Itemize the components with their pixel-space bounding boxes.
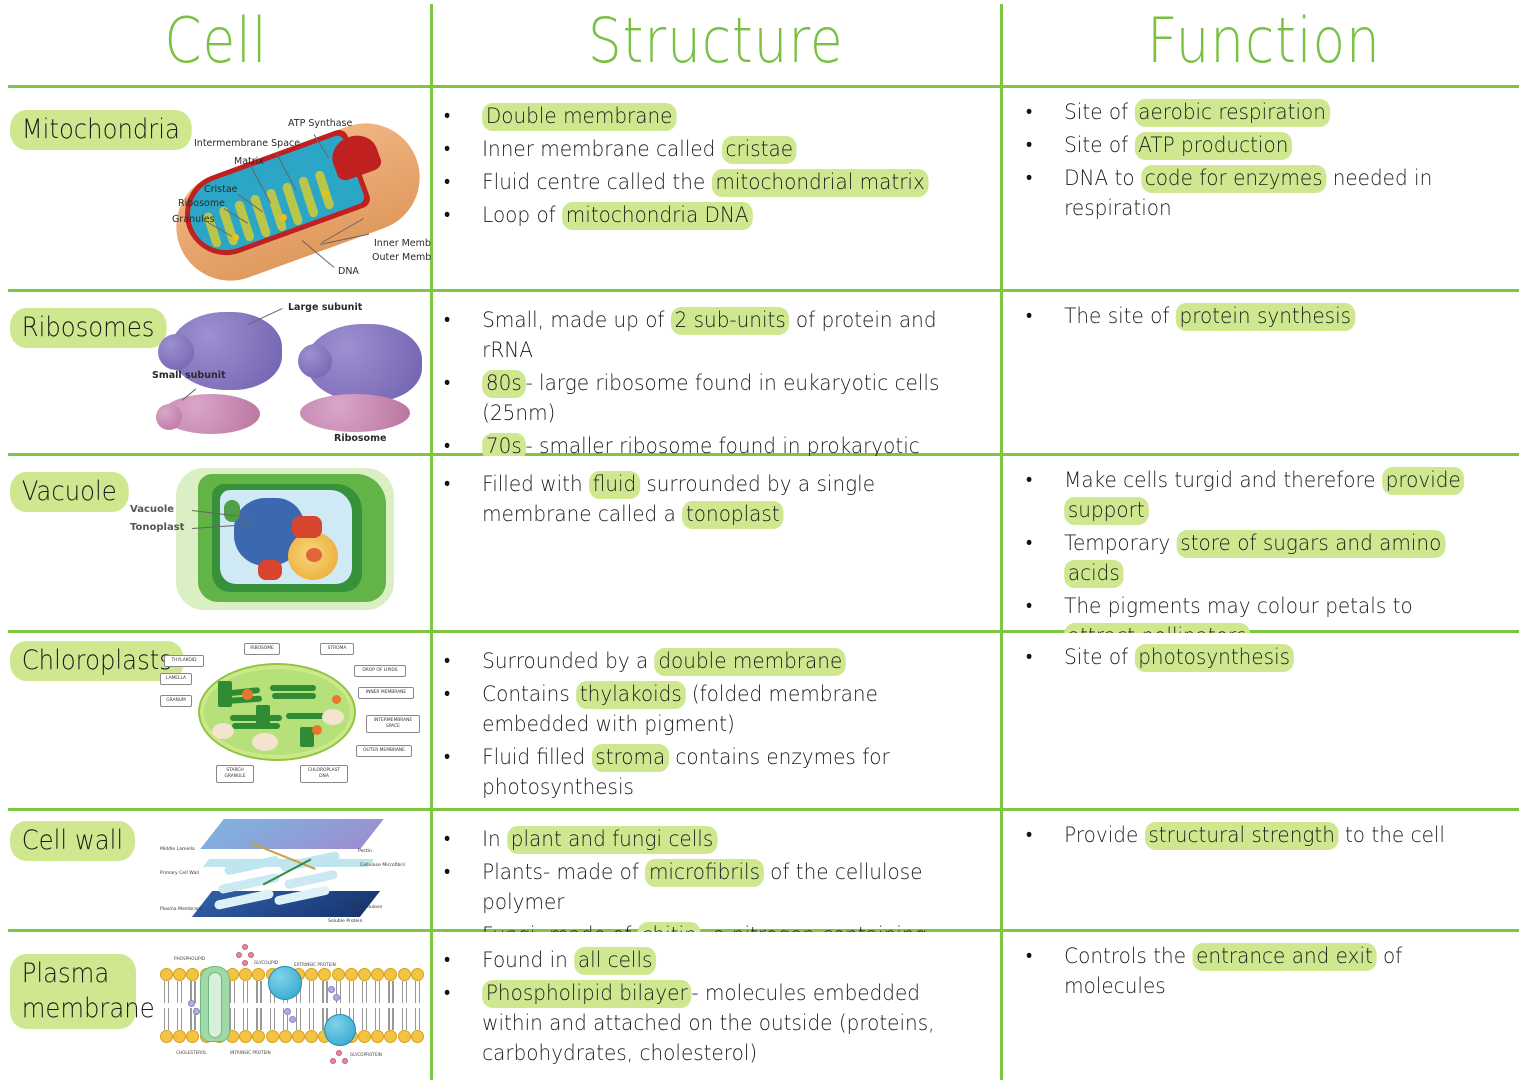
phospholipid-head: [173, 968, 186, 981]
phospholipid-tail: [164, 981, 165, 1003]
bullet-text: Fluid centre called the: [482, 170, 711, 195]
glycoprotein-sugar: [342, 1058, 348, 1064]
highlighted-term: 70s: [482, 433, 525, 456]
diagram-label: Large subunit: [288, 302, 362, 313]
chloroplast-shape: [258, 560, 282, 580]
function-list: Site of photosynthesis: [1013, 643, 1517, 673]
cholesterol: [193, 1008, 200, 1015]
golgi-apparatus: [292, 516, 322, 538]
bullet-text: Found in: [482, 948, 574, 973]
phospholipid-tail: [168, 981, 169, 1003]
bullet-item: Site of photosynthesis: [1013, 643, 1482, 673]
structure-list: In plant and fungi cellsPlants- made of …: [431, 825, 985, 932]
function-list: The site of protein synthesis: [1013, 302, 1517, 332]
bullet-item: Filled with fluid surrounded by a single…: [431, 470, 946, 530]
diagram-label: GLYCOPROTEIN: [350, 1052, 382, 1057]
phospholipid-tail: [362, 981, 363, 1003]
diagram-label-box: DROP OF LIPIDS: [354, 665, 406, 677]
granule: [232, 234, 239, 241]
phospholipid-tail: [309, 1008, 310, 1030]
header-function-label: Function: [1147, 2, 1381, 80]
chloroplast-diagram: THYLAKOID LAMELLA GRANUM RIBOSOME STROMA…: [160, 637, 430, 805]
bullet-text: - smaller ribosome found in prokaryotic …: [482, 434, 920, 456]
diagram-label: PHOSPHOLIPID: [174, 956, 205, 961]
phospholipid-head: [318, 968, 331, 981]
structure-list: Double membraneInner membrane called cri…: [431, 102, 985, 231]
starch-granule: [212, 723, 234, 739]
function-list: Site of aerobic respirationSite of ATP p…: [1013, 98, 1517, 224]
bullet-text: The site of: [1064, 304, 1176, 329]
cholesterol: [289, 1016, 296, 1023]
bullet-item: Site of aerobic respiration: [1013, 98, 1482, 128]
highlighted-term: fluid: [589, 471, 640, 499]
diagram-label: Inner Membrane: [374, 238, 431, 249]
phospholipid-tail: [392, 981, 393, 1003]
phospholipid-tail: [181, 981, 182, 1003]
diagram-label-box: STARCH GRANULE: [216, 765, 254, 783]
diagram-label: Matrix: [234, 156, 264, 167]
phospholipid-tail: [270, 1008, 271, 1030]
diagram-label-box: LAMELLA: [160, 673, 192, 685]
phospholipid-tail: [243, 981, 244, 1003]
phospholipid-tail: [181, 1008, 182, 1030]
phospholipid-tail: [274, 1008, 275, 1030]
phospholipid-tail: [388, 1008, 389, 1030]
phospholipid-head: [411, 968, 424, 981]
diagram-label-box: CHLOROPLAST DNA: [300, 765, 348, 783]
row-vacuole-cell: Vacuole Vacuole Tonoplast: [0, 456, 431, 633]
extrinsic-protein-upper: [268, 966, 302, 1000]
bullet-text: In: [482, 827, 507, 852]
bullet-text: Site of: [1064, 133, 1134, 158]
bullet-text: Provide: [1064, 823, 1144, 848]
bullet-item: Contains thylakoids (folded membrane emb…: [431, 680, 946, 740]
lipid-drop: [242, 689, 253, 700]
nucleolus: [306, 548, 322, 562]
phospholipid-tail: [230, 1008, 231, 1030]
glycolipid-sugar: [242, 944, 248, 950]
phospholipid-tail: [379, 981, 380, 1003]
header-cell-cell: Cell: [0, 0, 431, 88]
bullet-text: Controls the: [1064, 944, 1192, 969]
bullet-text: Inner membrane called: [482, 137, 722, 162]
function-list: Make cells turgid and therefore provide …: [1013, 466, 1517, 633]
bullet-item: Temporary store of sugars and amino acid…: [1013, 529, 1482, 589]
diagram-label: Granules: [172, 214, 215, 225]
function-list: Provide structural strength to the cell: [1013, 821, 1517, 851]
diagram-label: Soluble Protein: [328, 919, 363, 925]
diagram-label: Cellulose Microfibril: [360, 863, 405, 869]
bullet-item: DNA to code for enzymes needed in respir…: [1013, 164, 1482, 224]
phospholipid-tail: [247, 981, 248, 1003]
highlighted-term: mitochondria DNA: [562, 202, 752, 230]
phospholipid-tail: [388, 981, 389, 1003]
phospholipid-head: [371, 968, 384, 981]
bullet-item: Site of ATP production: [1013, 131, 1482, 161]
function-list: Controls the entrance and exit of molecu…: [1013, 942, 1517, 1002]
highlighted-term: attract pollinators: [1064, 623, 1250, 633]
phospholipid-head: [252, 1030, 265, 1043]
chloroplast-organelle: [224, 500, 240, 522]
bullet-item: Fluid filled stroma contains enzymes for…: [431, 743, 946, 803]
phospholipid-tail: [230, 981, 231, 1003]
bullet-item: The pigments may colour petals to attrac…: [1013, 592, 1482, 633]
cholesterol: [328, 986, 335, 993]
highlighted-term: cristae: [722, 136, 797, 164]
bullet-item: In plant and fungi cells: [431, 825, 946, 855]
phospholipid-tail: [256, 1008, 257, 1030]
phospholipid-tail: [392, 1008, 393, 1030]
bullet-text: to the cell: [1339, 823, 1445, 848]
phospholipid-head: [239, 968, 252, 981]
phospholipid-tail: [415, 1008, 416, 1030]
row-chloroplasts-cell: Chloroplasts THYLAKOI: [0, 633, 431, 811]
diagram-label: Intermembrane Space: [194, 138, 300, 149]
row-ribosomes-function: The site of protein synthesis: [1001, 292, 1527, 456]
highlighted-term: 80s: [482, 370, 525, 398]
plant-cell-vacuole-diagram: Vacuole Tonoplast: [130, 460, 430, 620]
diagram-label: Small subunit: [152, 370, 226, 381]
diagram-label: Hemicellulose: [350, 905, 382, 911]
phospholipid-head: [252, 968, 265, 981]
phospholipid-head: [160, 968, 173, 981]
phospholipid-tail: [379, 1008, 380, 1030]
diagram-label: Ribosome: [334, 433, 386, 444]
phospholipid-head: [160, 1030, 173, 1043]
bullet-text: Make cells turgid and therefore: [1064, 468, 1382, 493]
bullet-item: Phospholipid bilayer- molecules embedded…: [431, 979, 946, 1069]
organelle-label-mitochondria: Mitochondria: [10, 110, 192, 150]
phospholipid-tail: [190, 1008, 191, 1030]
diagram-label: Vacuole: [130, 504, 174, 515]
highlighted-term: structural strength: [1145, 822, 1339, 850]
diagram-label: Middle Lamella: [160, 847, 195, 853]
diagram-label: Ribosome: [178, 198, 225, 209]
phospholipid-tail: [406, 1008, 407, 1030]
row-cellwall-structure: In plant and fungi cellsPlants- made of …: [431, 811, 1001, 932]
starch-granule: [252, 733, 278, 751]
diagram-label: Plasma Membrane: [160, 907, 203, 913]
organelle-table: Cell Structure Function Mitochondria: [0, 0, 1527, 1080]
granum-stack: [218, 681, 232, 707]
highlighted-term: all cells: [574, 947, 656, 975]
organelle-label-ribosomes: Ribosomes: [10, 308, 166, 348]
bullet-item: Surrounded by a double membrane: [431, 647, 946, 677]
bullet-item: 80s- large ribosome found in eukaryotic …: [431, 369, 946, 429]
row-plasmamembrane-function: Controls the entrance and exit of molecu…: [1001, 932, 1527, 1080]
phospholipid-head: [186, 1030, 199, 1043]
highlighted-term: code for enzymes: [1141, 165, 1326, 193]
thylakoid: [272, 693, 316, 699]
header-cell-structure: Structure: [431, 0, 1001, 88]
diagram-label: Pectin: [358, 849, 372, 855]
phospholipid-tail: [300, 1008, 301, 1030]
lipid-drop: [312, 725, 322, 735]
bullet-text: Fungi- made of: [482, 923, 638, 932]
highlighted-term: chitin: [638, 922, 701, 932]
organelle-label-plasma-membrane: Plasma membrane: [10, 954, 136, 1029]
granum-stack: [256, 705, 270, 729]
bullet-text: Site of: [1064, 100, 1134, 125]
bullet-item: Plants- made of microfibrils of the cell…: [431, 858, 946, 918]
bullet-item: Provide structural strength to the cell: [1013, 821, 1482, 851]
diagram-label: EXTRINSIC PROTEIN: [294, 962, 336, 967]
glycolipid-sugar: [236, 952, 242, 958]
diagram-label-box: GRANUM: [160, 695, 192, 707]
diagram-label: CHOLESTEROL: [176, 1050, 207, 1055]
phospholipid-tail: [243, 1008, 244, 1030]
phospholipid-tail: [247, 1008, 248, 1030]
organelle-label-vacuole: Vacuole: [10, 472, 128, 512]
phospholipid-head: [398, 1030, 411, 1043]
highlighted-term: thylakoids: [576, 681, 685, 709]
plasma-membrane-diagram: PHOSPHOLIPID GLYCOLIPID EXTRINSIC PROTEI…: [158, 938, 430, 1078]
row-chloroplasts-function: Site of photosynthesis: [1001, 633, 1527, 811]
phospholipid-tail: [366, 1008, 367, 1030]
phospholipid-head: [266, 1030, 279, 1043]
phospholipid-tail: [260, 981, 261, 1003]
bullet-item: The site of protein synthesis: [1013, 302, 1482, 332]
phospholipid-tail: [375, 1008, 376, 1030]
cellulose-microfibril: [284, 869, 339, 889]
cholesterol: [284, 1008, 291, 1015]
highlighted-term: mitochondrial matrix: [712, 169, 929, 197]
phospholipid-tail: [313, 1008, 314, 1030]
glycolipid-sugar: [248, 952, 254, 958]
phospholipid-tail: [362, 1008, 363, 1030]
structure-list: Found in all cellsPhospholipid bilayer- …: [431, 946, 985, 1069]
bullet-item: Small, made up of 2 sub-units of protein…: [431, 306, 946, 366]
highlighted-term: entrance and exit: [1192, 943, 1376, 971]
highlighted-term: microfibrils: [645, 859, 764, 887]
structure-list: Small, made up of 2 sub-units of protein…: [431, 306, 985, 456]
bullet-item: Inner membrane called cristae: [431, 135, 946, 165]
phospholipid-tail: [164, 1008, 165, 1030]
phospholipid-tail: [419, 1008, 420, 1030]
diagram-label-box: INNER MEMBRANE: [358, 687, 414, 699]
bullet-text: Plants- made of: [482, 860, 645, 885]
starch-granule: [322, 709, 344, 725]
highlighted-term: Double membrane: [482, 103, 676, 131]
structure-list: Filled with fluid surrounded by a single…: [431, 470, 985, 530]
phospholipid-head: [398, 968, 411, 981]
thylakoid: [270, 685, 316, 691]
diagram-label: Cristae: [204, 184, 238, 195]
glycoprotein-sugar: [336, 1050, 342, 1056]
phospholipid-head: [173, 1030, 186, 1043]
phospholipid-tail: [406, 981, 407, 1003]
structure-list: Surrounded by a double membraneContains …: [431, 647, 985, 803]
phospholipid-head: [186, 968, 199, 981]
phospholipid-tail: [353, 981, 354, 1003]
bullet-text: The pigments may colour petals to: [1064, 594, 1413, 619]
bullet-text: Filled with: [482, 472, 589, 497]
header-cell-label: Cell: [164, 2, 267, 80]
phospholipid-tail: [234, 1008, 235, 1030]
row-mitochondria-structure: Double membraneInner membrane called cri…: [431, 88, 1001, 292]
phospholipid-head: [345, 968, 358, 981]
granule: [280, 214, 287, 221]
header-cell-function: Function: [1001, 0, 1527, 88]
bullet-text: Small, made up of: [482, 308, 671, 333]
phospholipid-head: [279, 1030, 292, 1043]
diagram-label-box: STROMA: [320, 643, 354, 655]
row-plasmamembrane-cell: Plasma membrane PHOSPH: [0, 932, 431, 1080]
phospholipid-tail: [256, 981, 257, 1003]
row-vacuole-function: Make cells turgid and therefore provide …: [1001, 456, 1527, 633]
bullet-item: Fluid centre called the mitochondrial ma…: [431, 168, 946, 198]
diagram-label: GLYCOLIPID: [254, 960, 278, 965]
intrinsic-protein-channel-core: [208, 972, 222, 1038]
diagram-label-box: THYLAKOID: [164, 655, 204, 667]
diagram-label: DNA: [338, 266, 359, 277]
thylakoid: [286, 713, 326, 719]
phospholipid-tail: [260, 1008, 261, 1030]
cell-wall-diagram: Middle Lamella Primary Cell Wall Plasma …: [160, 815, 430, 927]
highlighted-term: ATP production: [1135, 132, 1293, 160]
phospholipid-tail: [326, 981, 327, 1003]
middle-lamella-slab: [200, 819, 383, 849]
diagram-label: Tonoplast: [130, 522, 184, 533]
glycoprotein-lower: [324, 1014, 356, 1046]
highlighted-term: tonoplast: [682, 501, 783, 529]
bullet-item: Loop of mitochondria DNA: [431, 201, 946, 231]
lipid-drop: [332, 695, 341, 704]
row-mitochondria-cell: Mitochondria: [0, 88, 431, 292]
phospholipid-tail: [375, 981, 376, 1003]
bullet-text: - large ribosome found in eukaryotic cel…: [482, 371, 939, 426]
row-ribosomes-cell: Ribosomes Large subunit Small subunit Ri…: [0, 292, 431, 456]
phospholipid-tail: [419, 981, 420, 1003]
large-subunit-left-lobe: [158, 334, 194, 370]
glycoprotein-sugar: [330, 1058, 336, 1064]
phospholipid-tail: [322, 981, 323, 1003]
phospholipid-tail: [402, 981, 403, 1003]
bullet-item: Controls the entrance and exit of molecu…: [1013, 942, 1482, 1002]
highlighted-term: plant and fungi cells: [507, 826, 717, 854]
phospholipid-head: [332, 968, 345, 981]
phospholipid-tail: [340, 981, 341, 1003]
phospholipid-head: [358, 968, 371, 981]
diagram-label: Primary Cell Wall: [160, 871, 199, 877]
row-plasmamembrane-structure: Found in all cellsPhospholipid bilayer- …: [431, 932, 1001, 1080]
phospholipid-head: [384, 1030, 397, 1043]
phospholipid-tail: [296, 1008, 297, 1030]
highlighted-term: double membrane: [655, 648, 846, 676]
bullet-text: Temporary: [1064, 531, 1176, 556]
diagram-label-box: INTERMEMBRANE SPACE: [366, 715, 420, 733]
row-cellwall-function: Provide structural strength to the cell: [1001, 811, 1527, 932]
bullet-text: Site of: [1064, 645, 1134, 670]
organelle-label-chloroplasts: Chloroplasts: [10, 641, 184, 681]
phospholipid-tail: [349, 981, 350, 1003]
diagram-label-box: RIBOSOME: [244, 643, 280, 655]
revision-table-page: Cell Structure Function Mitochondria: [0, 0, 1527, 1080]
phospholipid-tail: [168, 1008, 169, 1030]
phospholipid-head: [371, 1030, 384, 1043]
granule: [350, 162, 357, 169]
phospholipid-head: [411, 1030, 424, 1043]
organelle-label-cell-wall: Cell wall: [10, 821, 135, 861]
phospholipid-tail: [313, 981, 314, 1003]
bullet-text: Contains: [482, 682, 576, 707]
phospholipid-tail: [402, 1008, 403, 1030]
highlighted-term: 2 sub-units: [671, 307, 790, 335]
ribosome-diagram: Large subunit Small subunit Ribosome: [152, 296, 430, 451]
diagram-label-box: OUTER MEMBRANE: [356, 745, 412, 757]
small-subunit-right: [300, 394, 410, 432]
phospholipid-tail: [415, 981, 416, 1003]
phospholipid-tail: [234, 981, 235, 1003]
diagram-label: Outer Membrane: [372, 252, 431, 263]
highlighted-term: protein synthesis: [1176, 303, 1355, 331]
bullet-item: 70s- smaller ribosome found in prokaryot…: [431, 432, 946, 456]
phospholipid-tail: [366, 981, 367, 1003]
row-ribosomes-structure: Small, made up of 2 sub-units of protein…: [431, 292, 1001, 456]
phospholipid-head: [305, 1030, 318, 1043]
highlighted-term: aerobic respiration: [1135, 99, 1330, 127]
phospholipid-head: [292, 1030, 305, 1043]
phospholipid-head: [384, 968, 397, 981]
phospholipid-tail: [177, 1008, 178, 1030]
header-structure-label: Structure: [588, 2, 844, 80]
cholesterol: [333, 994, 340, 1001]
bullet-text: Fluid filled: [482, 745, 591, 770]
bullet-item: Make cells turgid and therefore provide …: [1013, 466, 1482, 526]
highlighted-term: stroma: [592, 744, 669, 772]
bullet-text: DNA to: [1064, 166, 1141, 191]
row-vacuole-structure: Filled with fluid surrounded by a single…: [431, 456, 1001, 633]
bullet-item: Found in all cells: [431, 946, 946, 976]
phospholipid-head: [358, 1030, 371, 1043]
mitochondrion-diagram: ATP Synthase Intermembrane Space Matrix …: [172, 112, 430, 292]
highlighted-term: Phospholipid bilayer: [482, 980, 691, 1008]
highlighted-term: photosynthesis: [1135, 644, 1294, 672]
bullet-item: Fungi- made of chitin, a nitrogen-contai…: [431, 921, 946, 932]
diagram-label: INTRINSIC PROTEIN: [230, 1050, 271, 1055]
row-mitochondria-function: Site of aerobic respirationSite of ATP p…: [1001, 88, 1527, 292]
diagram-label: ATP Synthase: [288, 118, 352, 129]
large-subunit-right-lobe: [298, 344, 332, 378]
cholesterol: [188, 1000, 195, 1007]
phospholipid-head: [239, 1030, 252, 1043]
phospholipid-tail: [177, 981, 178, 1003]
phospholipid-tail: [194, 981, 195, 1003]
phospholipid-tail: [309, 981, 310, 1003]
small-subunit-left-lobe: [156, 404, 182, 430]
glycolipid-sugar: [242, 960, 248, 966]
phospholipid-head: [305, 968, 318, 981]
row-cellwall-cell: Cell wall Middle Lamella Primary Cell Wa…: [0, 811, 431, 932]
bullet-text: Surrounded by a: [482, 649, 654, 674]
granule: [322, 190, 329, 197]
bullet-item: Double membrane: [431, 102, 946, 132]
row-chloroplasts-structure: Surrounded by a double membraneContains …: [431, 633, 1001, 811]
bullet-text: Loop of: [482, 203, 562, 228]
